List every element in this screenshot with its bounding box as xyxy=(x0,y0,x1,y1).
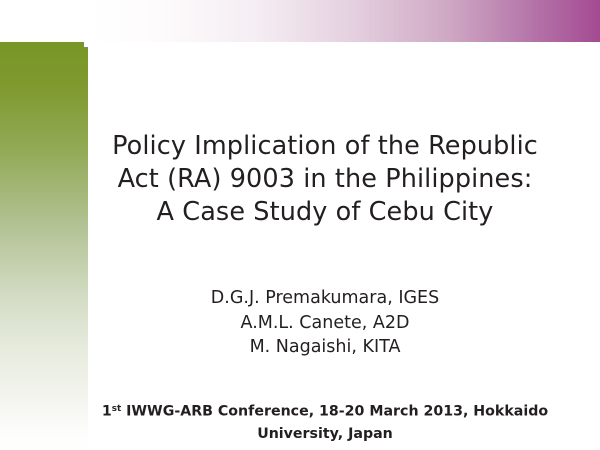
title-line-2: Act (RA) 9003 in the Philippines: xyxy=(96,163,554,196)
author-list: D.G.J. Premakumara, IGES A.M.L. Canete, … xyxy=(96,286,554,360)
title-line-1: Policy Implication of the Republic xyxy=(96,130,554,163)
conference-ordinal-suffix: st xyxy=(112,404,121,414)
conference-ordinal-number: 1 xyxy=(102,404,112,420)
author-line-2: A.M.L. Canete, A2D xyxy=(96,311,554,336)
title-line-3: A Case Study of Cebu City xyxy=(96,196,554,229)
conference-line-1-rest: IWWG-ARB Conference, 18-20 March 2013, H… xyxy=(121,404,548,420)
slide-title: Policy Implication of the Republic Act (… xyxy=(96,130,554,229)
conference-line-1: 1st IWWG-ARB Conference, 18-20 March 201… xyxy=(90,398,560,423)
conference-line-2: University, Japan xyxy=(90,423,560,445)
author-line-1: D.G.J. Premakumara, IGES xyxy=(96,286,554,311)
conference-info: 1st IWWG-ARB Conference, 18-20 March 201… xyxy=(90,398,560,445)
slide-content: Policy Implication of the Republic Act (… xyxy=(0,0,600,450)
title-slide: Policy Implication of the Republic Act (… xyxy=(0,0,600,450)
author-line-3: M. Nagaishi, KITA xyxy=(96,335,554,360)
